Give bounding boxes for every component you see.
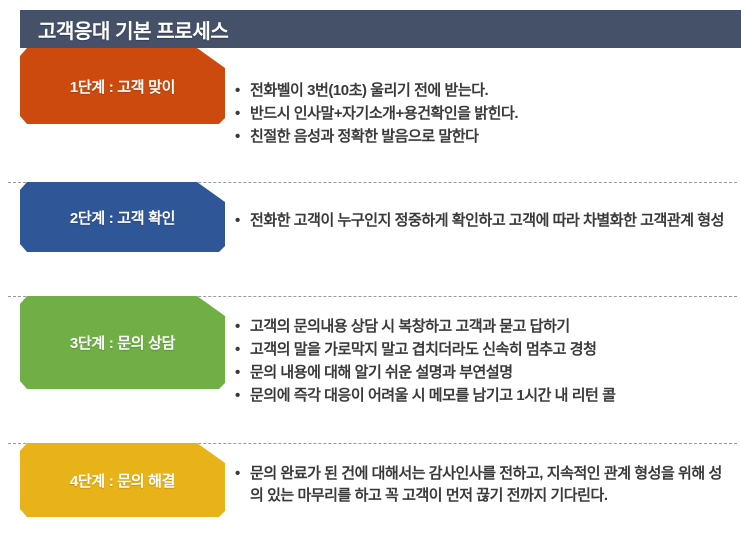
step-1-badge-label: 1단계 : 고객 맞이 (70, 76, 175, 97)
step-3-badge-wrap: 3단계 : 문의 상담 (0, 296, 225, 389)
step-1-badge[interactable]: 1단계 : 고객 맞이 (20, 48, 225, 124)
slide-canvas: 고객응대 기본 프로세스 1단계 : 고객 맞이 전화벨이 3번(10초) 울리… (0, 0, 741, 542)
list-item: 고객의 문의내용 상담 시 복창하고 고객과 묻고 답하기 (235, 316, 733, 338)
step-4-badge-wrap: 4단계 : 문의 해결 (0, 443, 225, 517)
step-2-bullets: 전화한 고객이 누구인지 정중하게 확인하고 고객에 따라 차별화한 고객관계 … (225, 182, 741, 233)
process-step-2: 2단계 : 고객 확인 전화한 고객이 누구인지 정중하게 확인하고 고객에 따… (0, 182, 741, 296)
step-3-badge[interactable]: 3단계 : 문의 상담 (20, 296, 225, 389)
step-2-badge-wrap: 2단계 : 고객 확인 (0, 182, 225, 252)
step-4-bullets: 문의 완료가 된 건에 대해서는 감사인사를 전하고, 지속적인 관계 형성을 … (225, 443, 741, 508)
list-item: 친절한 음성과 정확한 발음으로 말한다 (235, 126, 733, 148)
process-step-1: 1단계 : 고객 맞이 전화벨이 3번(10초) 울리기 전에 받는다. 반드시… (0, 48, 741, 182)
process-step-4: 4단계 : 문의 해결 문의 완료가 된 건에 대해서는 감사인사를 전하고, … (0, 443, 741, 542)
process-steps-list: 1단계 : 고객 맞이 전화벨이 3번(10초) 울리기 전에 받는다. 반드시… (0, 48, 741, 542)
step-2-badge[interactable]: 2단계 : 고객 확인 (20, 182, 225, 252)
list-item: 고객의 말을 가로막지 말고 겹치더라도 신속히 멈추고 경청 (235, 339, 733, 361)
list-item: 전화한 고객이 누구인지 정중하게 확인하고 고객에 따라 차별화한 고객관계 … (235, 210, 733, 232)
step-2-badge-label: 2단계 : 고객 확인 (70, 207, 175, 228)
slide-header-bar: 고객응대 기본 프로세스 (20, 10, 741, 48)
page-title: 고객응대 기본 프로세스 (38, 15, 228, 44)
step-4-badge-label: 4단계 : 문의 해결 (70, 470, 175, 491)
list-item: 문의 완료가 된 건에 대해서는 감사인사를 전하고, 지속적인 관계 형성을 … (235, 463, 733, 507)
list-item: 문의 내용에 대해 알기 쉬운 설명과 부연설명 (235, 362, 733, 384)
process-step-3: 3단계 : 문의 상담 고객의 문의내용 상담 시 복창하고 고객과 묻고 답하… (0, 296, 741, 443)
list-item: 전화벨이 3번(10초) 울리기 전에 받는다. (235, 80, 733, 102)
list-item: 반드시 인사말+자기소개+용건확인을 밝힌다. (235, 103, 733, 125)
step-3-bullets: 고객의 문의내용 상담 시 복창하고 고객과 묻고 답하기 고객의 말을 가로막… (225, 296, 741, 408)
step-1-badge-wrap: 1단계 : 고객 맞이 (0, 48, 225, 124)
list-item: 문의에 즉각 대응이 어려울 시 메모를 남기고 1시간 내 리턴 콜 (235, 385, 733, 407)
step-3-badge-label: 3단계 : 문의 상담 (70, 332, 175, 353)
step-1-bullets: 전화벨이 3번(10초) 울리기 전에 받는다. 반드시 인사말+자기소개+용건… (225, 48, 741, 149)
step-4-badge[interactable]: 4단계 : 문의 해결 (20, 443, 225, 517)
